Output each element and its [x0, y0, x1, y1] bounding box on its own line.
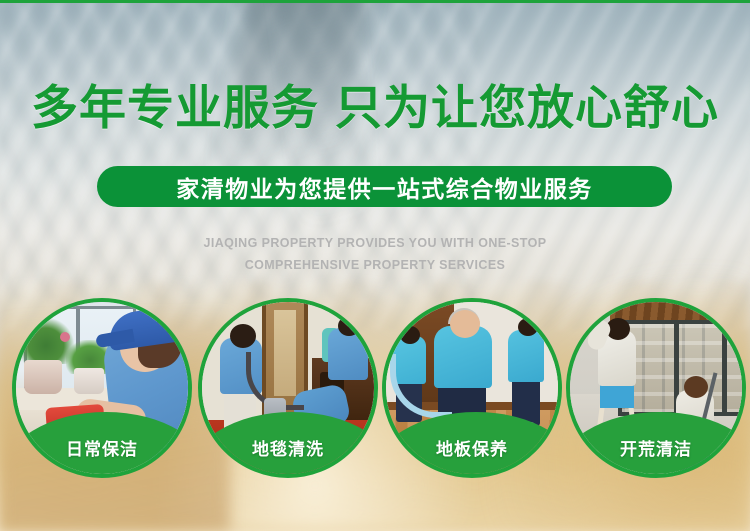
service-circle-row: 日常保洁 地毯清洗 地板保养	[0, 298, 750, 493]
promo-banner: 多年专业服务只为让您放心舒心 家清物业为您提供一站式综合物业服务 JIAQING…	[0, 0, 750, 531]
subtitle-line-1: JIAQING PROPERTY PROVIDES YOU WITH ONE-S…	[0, 232, 750, 254]
service-card-post-construction-cleaning[interactable]: 开荒清洁	[566, 298, 746, 478]
service-label-carpet-cleaning: 地毯清洗	[202, 435, 374, 460]
service-card-carpet-cleaning[interactable]: 地毯清洗	[198, 298, 378, 478]
subtitle-line-2: COMPREHENSIVE PROPERTY SERVICES	[0, 254, 750, 276]
service-card-daily-cleaning[interactable]: 日常保洁	[12, 298, 192, 478]
service-label-floor-care: 地板保养	[386, 435, 558, 460]
tagline-text: 家清物业为您提供一站式综合物业服务	[176, 170, 593, 204]
headline-part-2: 只为让您放心舒心	[335, 81, 719, 134]
service-label-post-construction-cleaning: 开荒清洁	[570, 435, 742, 460]
tagline-pill: 家清物业为您提供一站式综合物业服务	[97, 166, 672, 207]
page-title: 多年专业服务只为让您放心舒心	[0, 80, 750, 136]
english-subtitle: JIAQING PROPERTY PROVIDES YOU WITH ONE-S…	[0, 232, 750, 276]
service-label-daily-cleaning: 日常保洁	[16, 435, 188, 460]
top-accent-rule	[0, 0, 750, 3]
headline-part-1: 多年专业服务	[31, 81, 319, 134]
service-card-floor-care[interactable]: 地板保养	[382, 298, 562, 478]
